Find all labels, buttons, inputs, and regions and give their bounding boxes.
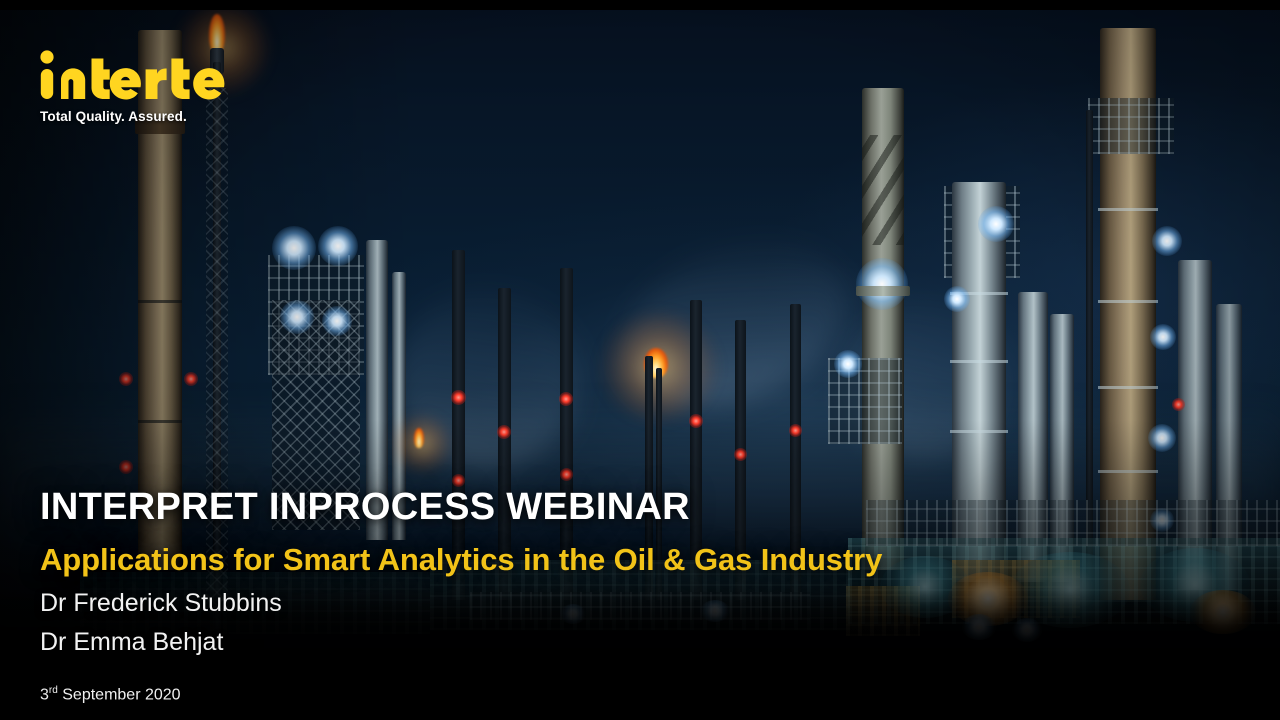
logo-tagline: Total Quality. Assured. [40,109,234,124]
presentation-slide: Total Quality. Assured. INTERPRET INPROC… [0,0,1280,720]
intertek-wordmark-svg [38,48,234,100]
presenter-name-1: Dr Frederick Stubbins [40,588,1140,620]
date-day: 3 [40,686,49,703]
presenter-name-2: Dr Emma Behjat [40,627,1140,659]
slide-title: INTERPRET INPROCESS WEBINAR [40,487,1140,528]
slide-subtitle: Applications for Smart Analytics in the … [40,543,1140,577]
floodlight [318,226,358,266]
warning-light [119,460,133,474]
warning-light [560,468,573,481]
floodlight [856,258,908,310]
date-rest: September 2020 [58,686,181,703]
chimney-right-stripe [862,135,904,245]
warning-light [734,448,747,461]
date-ordinal: rd [49,685,58,696]
chimney-band [138,300,182,303]
warning-light [689,414,703,428]
column-band [950,430,1008,433]
flare-flame-far-left [414,428,424,448]
logo-wordmark [38,48,234,100]
warning-light [451,390,466,405]
chimney-band [138,420,182,423]
floodlight [272,226,316,270]
column-band [950,360,1008,363]
floodlight [834,350,862,378]
tower-band [1098,470,1158,473]
chimney-right-collar [856,286,910,296]
title-block: INTERPRET INPROCESS WEBINAR Applications… [40,487,1140,704]
warning-light [184,372,198,386]
floodlight [1152,226,1182,256]
floodlight [280,300,314,334]
warning-light [789,424,802,437]
floodlight [1150,324,1176,350]
intertek-logo: Total Quality. Assured. [38,48,234,124]
tower-band [1098,208,1158,211]
warning-light [119,372,133,386]
floodlight [322,306,352,336]
tower-top-platform [1088,98,1174,154]
letterbox-bar-top [0,0,1280,10]
warning-light [559,392,573,406]
floodlight [978,206,1014,242]
tower-band [1098,300,1158,303]
warning-light [1172,398,1185,411]
slide-date: 3rd September 2020 [40,685,1140,704]
tower-band [1098,386,1158,389]
floodlight [944,286,970,312]
letterbox-bar-bottom [0,716,1280,720]
floodlight [1148,424,1176,452]
warning-light [497,425,511,439]
